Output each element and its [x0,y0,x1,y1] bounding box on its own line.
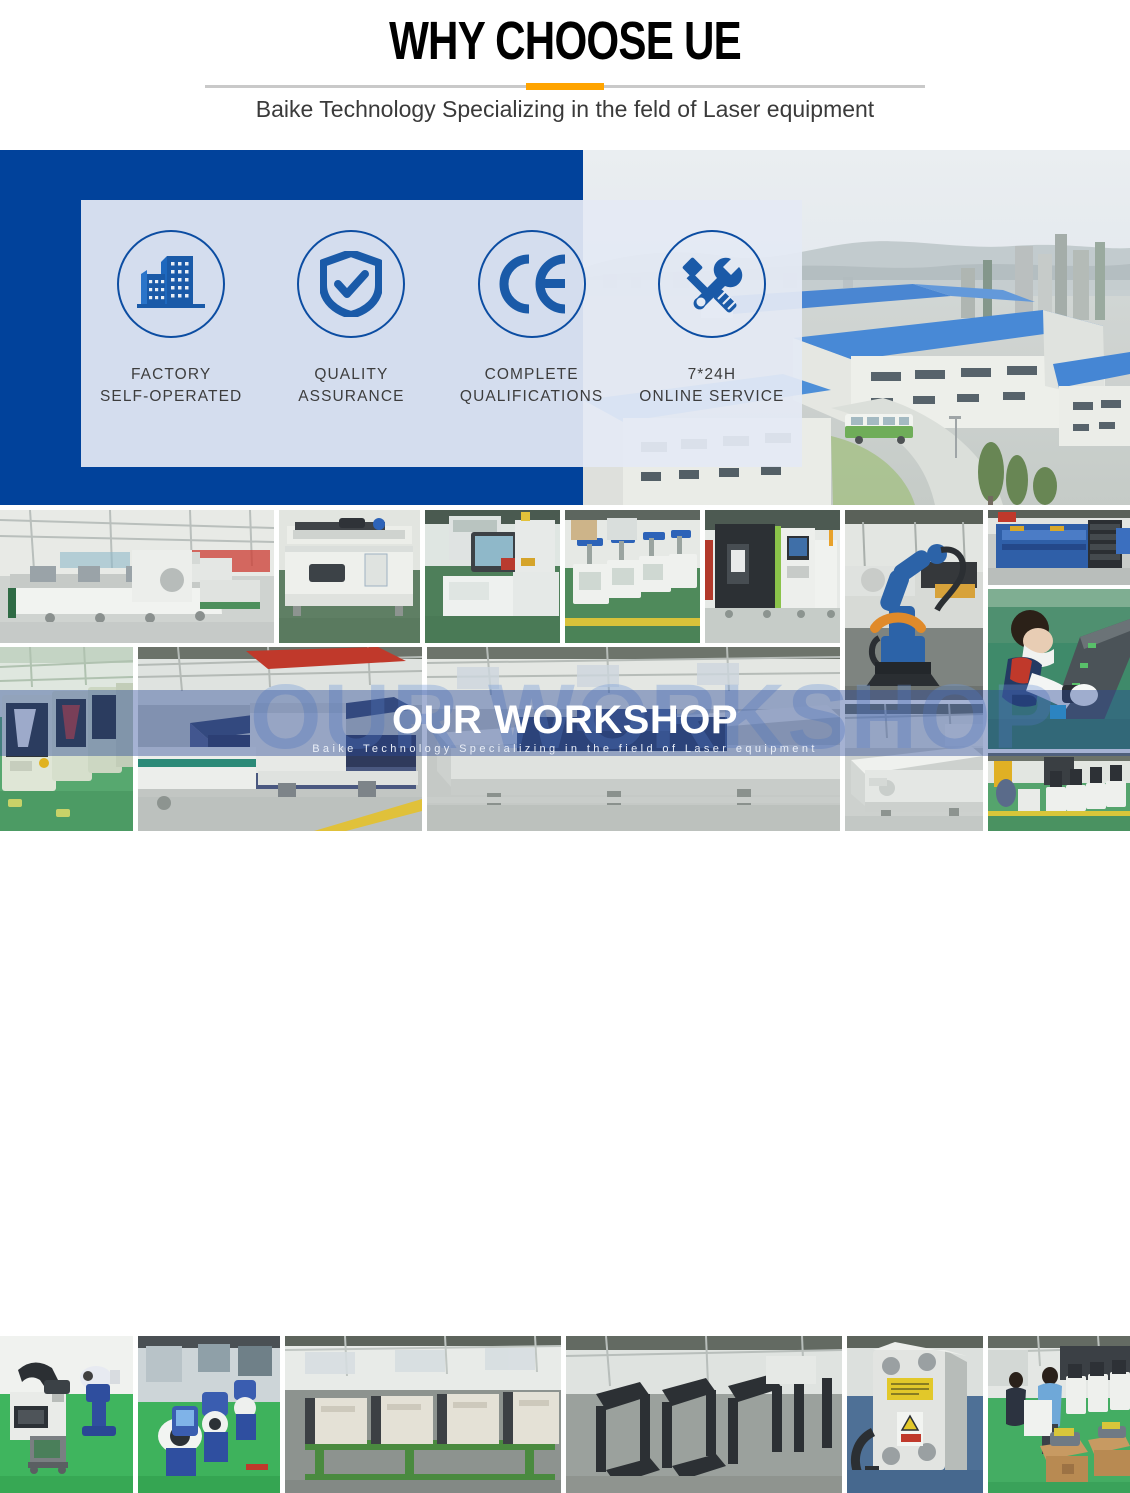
feature-online-service[interactable]: 7*24H ONLINE SERVICE [622,200,802,408]
gallery-tile-12[interactable] [845,704,983,831]
ce-mark-icon [478,230,586,338]
title-divider [205,83,925,89]
divider-accent [526,83,604,90]
gallery-tile-16[interactable] [285,1336,561,1493]
page-header: WHY CHOOSE UE Baike Technology Specializ… [0,0,1130,150]
gallery-tile-13[interactable] [988,753,1130,831]
gallery-tile-4[interactable] [565,510,700,643]
workshop-photo-grid: OUR WORKSHOP OUR WORKSHOP Baike Technolo… [0,505,1130,988]
tools-wrench-screwdriver-icon [658,230,766,338]
gallery-tile-2[interactable] [279,510,420,643]
feature-quality[interactable]: QUALITY ASSURANCE [261,200,441,408]
gallery-tile-8[interactable] [0,647,133,831]
page-subtitle: Baike Technology Specializing in the fel… [0,96,1130,123]
gallery-tile-18[interactable] [847,1336,983,1493]
feature-label: QUALITY ASSURANCE [261,364,441,408]
feature-label: FACTORY SELF-OPERATED [81,364,261,408]
feature-factory[interactable]: FACTORY SELF-OPERATED [81,200,261,408]
page-title: WHY CHOOSE UE [124,0,1005,68]
shield-check-icon [297,230,405,338]
gallery-tile-15[interactable] [138,1336,280,1493]
features-panel: FACTORY SELF-OPERATED QUALITY ASSURANCE … [81,200,802,467]
gallery-tile-19[interactable] [988,1336,1130,1493]
feature-qualifications[interactable]: COMPLETE QUALIFICATIONS [442,200,622,408]
feature-label: COMPLETE QUALIFICATIONS [442,364,622,408]
gallery-tile-6[interactable] [845,510,983,700]
feature-label: 7*24H ONLINE SERVICE [622,364,802,408]
gallery-tile-7[interactable] [988,510,1130,585]
gallery-tile-3[interactable] [425,510,560,643]
gallery-tile-14[interactable] [0,1336,133,1493]
gallery-tile-11[interactable] [427,647,840,831]
hero-section: FACTORY SELF-OPERATED QUALITY ASSURANCE … [0,150,1130,505]
gallery-tile-1[interactable] [0,510,274,643]
gallery-tile-17[interactable] [566,1336,842,1493]
gallery-tile-5[interactable] [705,510,840,643]
factory-building-icon [117,230,225,338]
gallery-tile-10[interactable] [988,589,1130,749]
gallery-tile-9[interactable] [138,647,422,831]
